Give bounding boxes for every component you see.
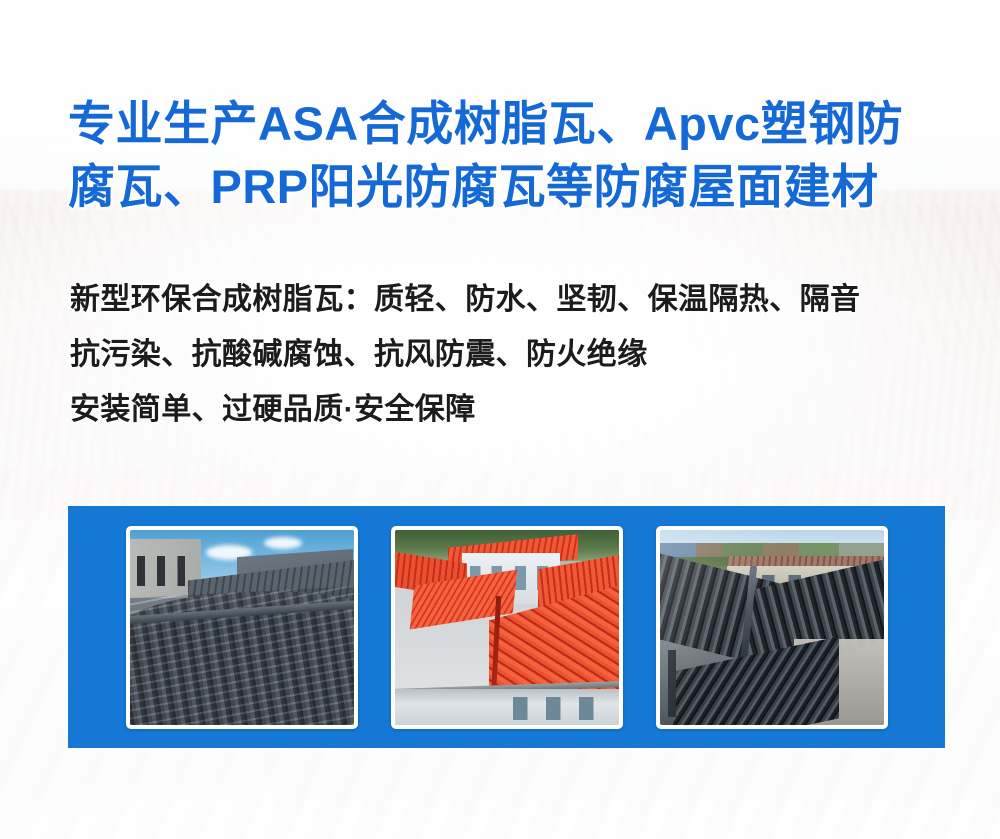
- subtitle-line-1: 新型环保合成树脂瓦：质轻、防水、坚韧、保温隔热、隔音: [70, 272, 960, 327]
- headline-line-2: 腐瓦、PRP阳光防腐瓦等防腐屋面建材: [68, 155, 948, 218]
- photo-frame-2[interactable]: [391, 526, 623, 729]
- subtitle-line-2: 抗污染、抗酸碱腐蚀、抗风防震、防火绝缘: [70, 327, 960, 382]
- subtitle: 新型环保合成树脂瓦：质轻、防水、坚韧、保温隔热、隔音 抗污染、抗酸碱腐蚀、抗风防…: [70, 272, 960, 437]
- banner-content: 专业生产ASA合成树脂瓦、Apvc塑钢防 腐瓦、PRP阳光防腐瓦等防腐屋面建材 …: [0, 0, 1000, 839]
- photo-grey-barrel-tile-roof: [130, 530, 354, 725]
- headline: 专业生产ASA合成树脂瓦、Apvc塑钢防 腐瓦、PRP阳光防腐瓦等防腐屋面建材: [68, 92, 948, 218]
- photo-red-resin-tile-roofs: [395, 530, 619, 725]
- photo-frame-1[interactable]: [126, 526, 358, 729]
- photo-gallery-panel: [68, 506, 945, 748]
- photo-frame-3[interactable]: [656, 526, 888, 729]
- photo3-sun-highlight: [660, 530, 884, 725]
- photo-black-resin-tile-roof-village: [660, 530, 884, 725]
- photo2-facade: [395, 689, 619, 724]
- headline-line-1: 专业生产ASA合成树脂瓦、Apvc塑钢防: [68, 92, 948, 155]
- subtitle-line-3: 安装简单、过硬品质·安全保障: [70, 382, 960, 437]
- promo-banner: 专业生产ASA合成树脂瓦、Apvc塑钢防 腐瓦、PRP阳光防腐瓦等防腐屋面建材 …: [0, 0, 1000, 839]
